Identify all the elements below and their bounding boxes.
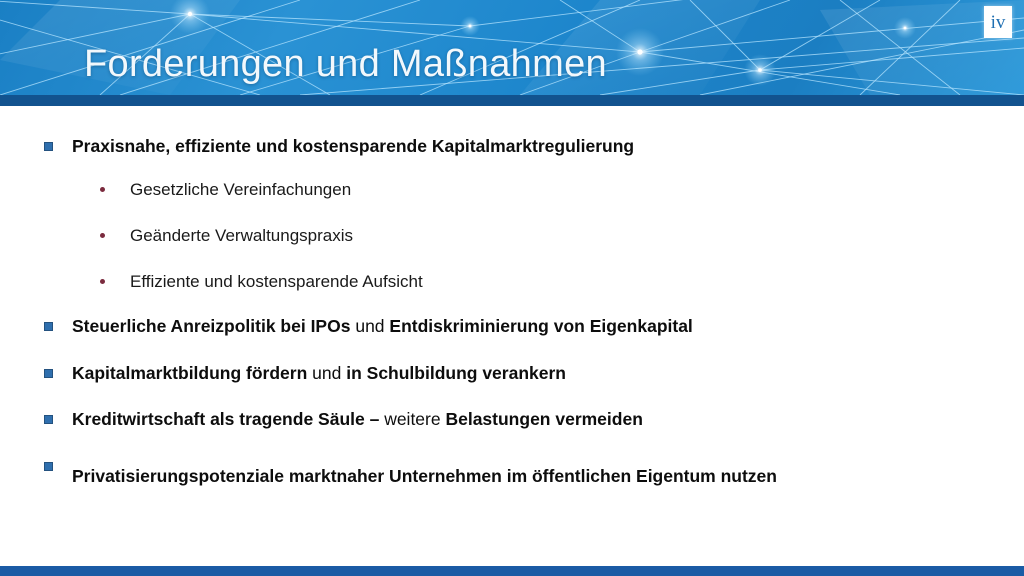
- sub-bullet-item-1-2: Geänderte Verwaltungspraxis: [100, 224, 353, 247]
- iv-logo-text: iv: [991, 13, 1006, 32]
- bullet-text-3-bold1: Kapitalmarktbildung fördern: [72, 363, 307, 383]
- bullet-text-2-bold1: Steuerliche Anreizpolitik bei IPOs: [72, 316, 350, 336]
- bullet-item-5: Privatisierungspotenziale marktnaher Unt…: [44, 454, 777, 498]
- bullet-text-3-reg1: und: [307, 363, 346, 383]
- square-bullet-icon: [44, 142, 53, 151]
- bullet-text-5: Privatisierungspotenziale marktnaher Unt…: [72, 454, 777, 498]
- sub-bullet-item-1-1: Gesetzliche Vereinfachungen: [100, 178, 351, 201]
- slide-title: Forderungen und Maßnahmen: [84, 42, 607, 86]
- bullet-text-4: Kreditwirtschaft als tragende Säule – we…: [72, 407, 643, 431]
- sub-bullet-text-1-1: Gesetzliche Vereinfachungen: [130, 178, 351, 201]
- bullet-text-4-bold2: Belastungen vermeiden: [445, 409, 642, 429]
- slide: Forderungen und Maßnahmen iv Praxisnahe,…: [0, 0, 1024, 576]
- slide-header-banner: Forderungen und Maßnahmen iv: [0, 0, 1024, 95]
- sub-bullet-text-1-3: Effiziente und kostensparende Aufsicht: [130, 270, 423, 293]
- dot-bullet-icon: [100, 279, 105, 284]
- bullet-item-1: Praxisnahe, effiziente und kostensparend…: [44, 134, 634, 158]
- square-bullet-icon: [44, 415, 53, 424]
- bullet-text-3-bold2: in Schulbildung verankern: [346, 363, 566, 383]
- square-bullet-icon: [44, 322, 53, 331]
- bullet-text-4-reg1: weitere: [379, 409, 445, 429]
- bullet-text-1: Praxisnahe, effiziente und kostensparend…: [72, 134, 634, 158]
- bullet-item-2: Steuerliche Anreizpolitik bei IPOs und E…: [44, 314, 693, 338]
- iv-logo: iv: [984, 6, 1012, 38]
- bullet-item-4: Kreditwirtschaft als tragende Säule – we…: [44, 407, 643, 431]
- bullet-text-3: Kapitalmarktbildung fördern und in Schul…: [72, 361, 566, 385]
- slide-body: Praxisnahe, effiziente und kostensparend…: [0, 106, 1024, 566]
- square-bullet-icon: [44, 369, 53, 378]
- bullet-text-2-bold2: Entdiskriminierung von Eigenkapital: [389, 316, 692, 336]
- dot-bullet-icon: [100, 233, 105, 238]
- sub-bullet-item-1-3: Effiziente und kostensparende Aufsicht: [100, 270, 423, 293]
- bullet-item-3: Kapitalmarktbildung fördern und in Schul…: [44, 361, 566, 385]
- header-divider-band: [0, 95, 1024, 106]
- dot-bullet-icon: [100, 187, 105, 192]
- sub-bullet-text-1-2: Geänderte Verwaltungspraxis: [130, 224, 353, 247]
- footer-band: [0, 566, 1024, 576]
- bullet-text-2: Steuerliche Anreizpolitik bei IPOs und E…: [72, 314, 693, 338]
- square-bullet-icon: [44, 462, 53, 471]
- bullet-text-2-reg1: und: [350, 316, 389, 336]
- bullet-text-4-bold1: Kreditwirtschaft als tragende Säule –: [72, 409, 379, 429]
